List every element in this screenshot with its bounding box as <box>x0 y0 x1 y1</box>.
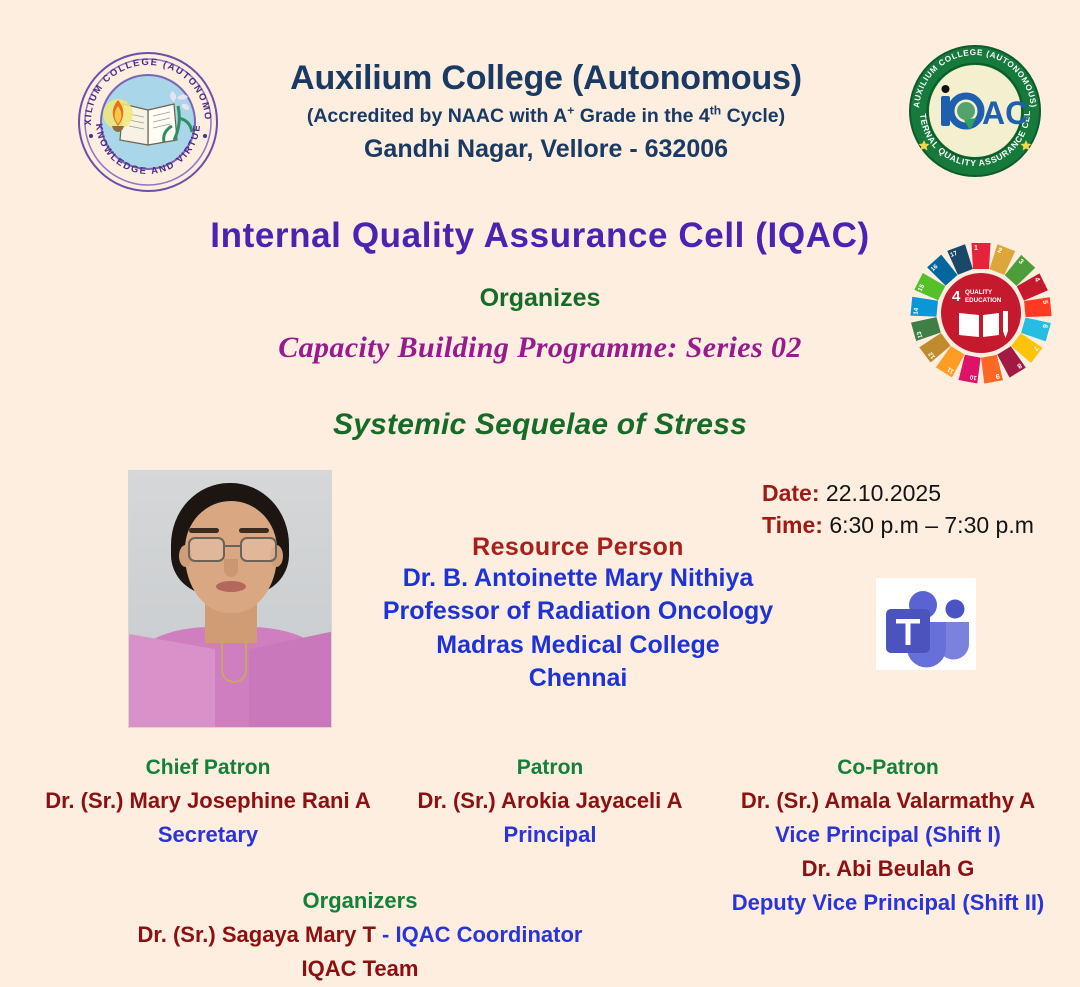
accreditation-prefix: (Accredited by NAAC with A <box>307 105 567 127</box>
patron-column-co-patron: Co-Patron Dr. (Sr.) Amala Valarmathy A V… <box>702 752 1074 920</box>
svg-text:1: 1 <box>974 245 978 252</box>
patron-role: Deputy Vice Principal (Shift II) <box>702 886 1074 920</box>
auxilium-college-seal-logo: AUXILIUM COLLEGE (AUTONOMOUS) KNOWLEDGE … <box>74 48 222 196</box>
poster-header: Auxilium College (Autonomous) (Accredite… <box>236 58 856 164</box>
photo-saree-left-drape <box>128 633 215 728</box>
date-row: Date: 22.10.2025 <box>762 478 1080 510</box>
svg-text:14: 14 <box>913 307 921 315</box>
organizers-coordinator-role: - IQAC Coordinator <box>382 922 582 947</box>
photo-eyeglasses <box>187 537 277 559</box>
photo-lens-right <box>240 537 277 562</box>
organizers-section: Organizers Dr. (Sr.) Sagaya Mary T - IQA… <box>0 884 720 986</box>
patron-column-chief-patron: Chief Patron Dr. (Sr.) Mary Josephine Ra… <box>18 752 398 852</box>
time-row: Time: 6:30 p.m – 7:30 p.m <box>762 510 1080 542</box>
patron-name: Dr. Abi Beulah G <box>702 852 1074 886</box>
resource-person-city: Chennai <box>350 662 806 695</box>
schedule-block: Date: 22.10.2025 Time: 6:30 p.m – 7:30 p… <box>762 478 1080 541</box>
patron-name: Dr. (Sr.) Arokia Jayaceli A <box>400 784 700 818</box>
microsoft-teams-logo <box>876 578 976 670</box>
photo-necklace <box>221 637 247 683</box>
patron-role: Secretary <box>18 818 398 852</box>
patron-title: Patron <box>400 752 700 784</box>
patron-column-patron: Patron Dr. (Sr.) Arokia Jayaceli A Princ… <box>400 752 700 852</box>
resource-person-institution: Madras Medical College <box>350 629 806 662</box>
photo-nose <box>224 559 238 577</box>
svg-text:AC: AC <box>982 95 1028 131</box>
event-poster: AUXILIUM COLLEGE (AUTONOMOUS) KNOWLEDGE … <box>0 0 1080 987</box>
svg-text:QUALITY: QUALITY <box>965 289 993 296</box>
svg-text:4: 4 <box>952 288 961 305</box>
iqac-seal-logo: AUXILIUM COLLEGE (AUTONOMOUS) INTERNAL Q… <box>908 44 1042 178</box>
patron-title: Chief Patron <box>18 752 398 784</box>
resource-person-designation: Professor of Radiation Oncology <box>350 595 806 628</box>
accreditation-line: (Accredited by NAAC with A+ Grade in the… <box>236 105 856 128</box>
organizers-team: IQAC Team <box>0 952 720 986</box>
accreditation-th: th <box>710 104 721 118</box>
patron-role: Principal <box>400 818 700 852</box>
svg-text:EDUCATION: EDUCATION <box>965 297 1002 304</box>
photo-glasses-bridge <box>223 545 240 547</box>
patron-role: Vice Principal (Shift I) <box>702 818 1074 852</box>
patron-title: Co-Patron <box>702 752 1074 784</box>
resource-person-name: Dr. B. Antoinette Mary Nithiya <box>350 562 806 595</box>
patron-name: Dr. (Sr.) Amala Valarmathy A <box>702 784 1074 818</box>
patron-name: Dr. (Sr.) Mary Josephine Rani A <box>18 784 398 818</box>
date-value: 22.10.2025 <box>826 480 941 506</box>
college-address: Gandhi Nagar, Vellore - 632006 <box>236 135 856 164</box>
svg-text:5: 5 <box>1041 300 1048 305</box>
photo-lens-left <box>188 537 225 562</box>
sdg-quality-education-wheel: 1 2 3 4 5 6 7 8 9 10 11 12 13 14 15 16 1 <box>906 238 1056 388</box>
photo-eyebrow-left <box>189 528 219 533</box>
programme-topic-title: Systemic Sequelae of Stress <box>0 408 1080 442</box>
time-value: 6:30 p.m – 7:30 p.m <box>829 512 1034 538</box>
college-name: Auxilium College (Autonomous) <box>236 58 856 98</box>
resource-person-block: Resource Person Dr. B. Antoinette Mary N… <box>350 533 806 695</box>
resource-person-photo <box>128 470 332 728</box>
photo-eyebrow-right <box>239 528 269 533</box>
accreditation-mid: Grade in the 4 <box>574 105 709 127</box>
organizers-coordinator-name: Dr. (Sr.) Sagaya Mary T <box>138 922 383 947</box>
organizers-title: Organizers <box>0 884 720 918</box>
accreditation-suffix: Cycle) <box>721 105 785 127</box>
resource-person-heading: Resource Person <box>350 533 806 562</box>
organizers-coordinator-row: Dr. (Sr.) Sagaya Mary T - IQAC Coordinat… <box>0 918 720 952</box>
photo-lips <box>216 581 246 592</box>
date-label: Date: <box>762 480 820 506</box>
